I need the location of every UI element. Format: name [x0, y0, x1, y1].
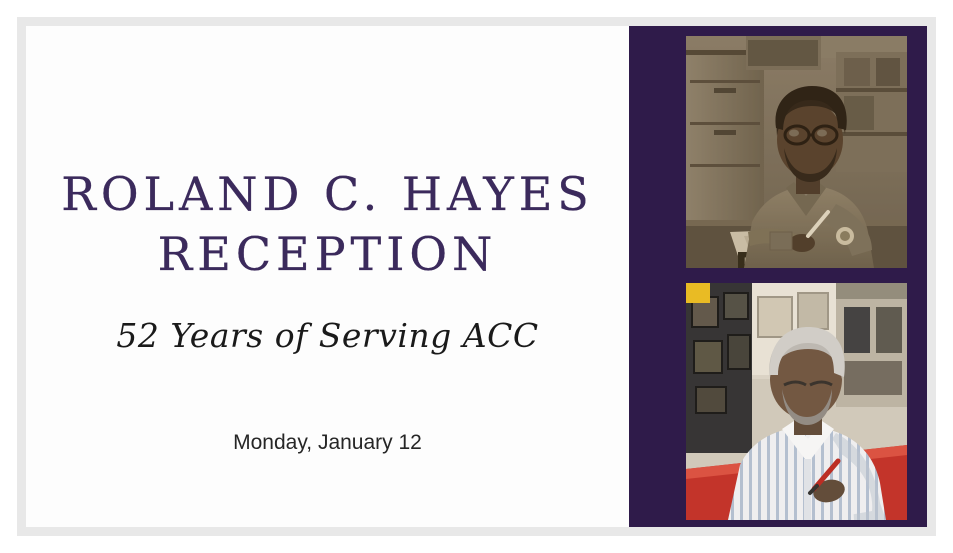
- photo-man-signing-document: [686, 283, 907, 520]
- slide-title-line-1: ROLAND C. HAYES: [26, 164, 629, 224]
- slide: ROLAND C. HAYES RECEPTION 52 Years of Se…: [0, 0, 953, 553]
- photo-bottom-alt: Color photo of an older man in a striped…: [0, 0, 1, 1]
- photo-top-alt: Sepia-toned photo of a man in glasses an…: [0, 0, 1, 1]
- text-block: ROLAND C. HAYES RECEPTION 52 Years of Se…: [26, 26, 629, 527]
- slide-subtitle: 52 Years of Serving ACC: [26, 316, 629, 355]
- slide-title: ROLAND C. HAYES RECEPTION: [26, 164, 629, 284]
- slide-title-line-2: RECEPTION: [26, 224, 629, 284]
- slide-date: Monday, January 12: [26, 431, 629, 455]
- photo-man-writing-at-desk-sepia: ROLAND: [686, 36, 907, 268]
